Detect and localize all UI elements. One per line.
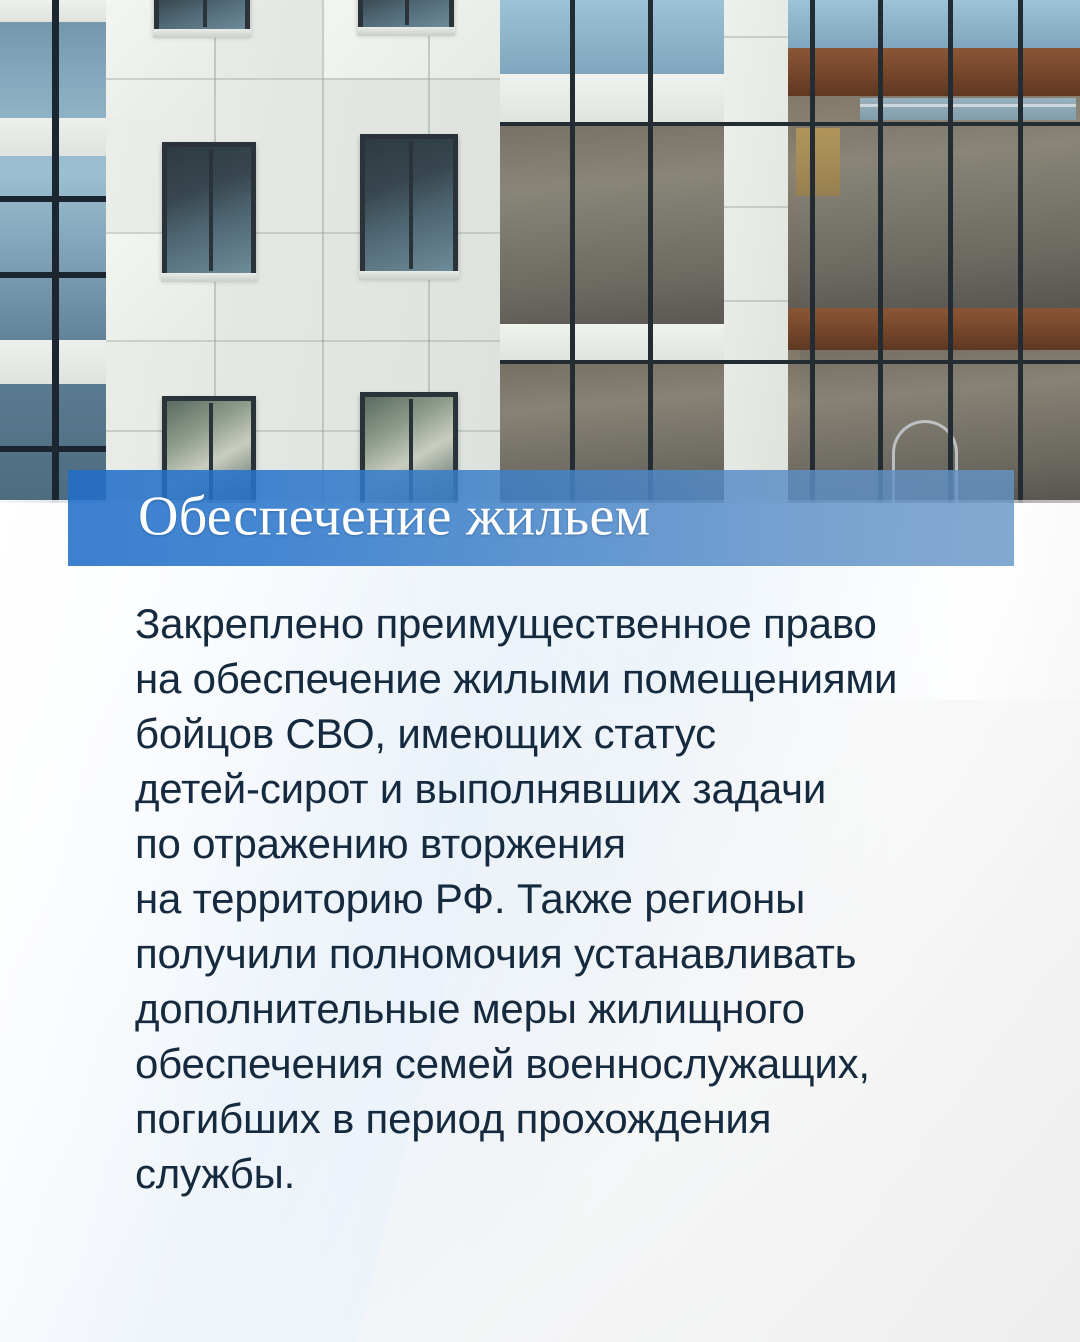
page-title: Обеспечение жильем [138,485,650,549]
body-line: обеспечения семей военнослужащих, [135,1036,1015,1091]
body-line: на территорию РФ. Также регионы [135,871,1015,926]
body-line: Закреплено преимущественное право [135,596,1015,651]
body-paragraph: Закреплено преимущественное право на обе… [135,596,1015,1201]
photo-right-glass-wall [500,0,1080,503]
body-line: бойцов СВО, имеющих статус [135,706,1015,761]
photo-left-glass-wall [0,0,106,503]
building-photo [0,0,1080,503]
body-line: по отражению вторжения [135,816,1015,871]
body-line: службы. [135,1146,1015,1201]
body-line: дополнительные меры жилищного [135,981,1015,1036]
photo-window [360,134,458,276]
body-line: на обеспечение жилыми помещениями [135,651,1015,706]
photo-window [154,0,250,34]
photo-window [358,0,454,32]
title-banner: Обеспечение жильем [68,470,1014,566]
infographic-card: Обеспечение жильем Закреплено преимущест… [0,0,1080,1342]
body-line: получили полномочия устанавливать [135,926,1015,981]
photo-window [162,142,256,278]
photo-facade-pier [724,0,788,503]
photo-panel-facade [106,0,500,503]
photo-wood-spandrel [788,308,1080,350]
body-line: детей-сирот и выполнявших задачи [135,761,1015,816]
body-line: погибших в период прохождения [135,1091,1015,1146]
photo-wood-spandrel [788,48,1080,96]
